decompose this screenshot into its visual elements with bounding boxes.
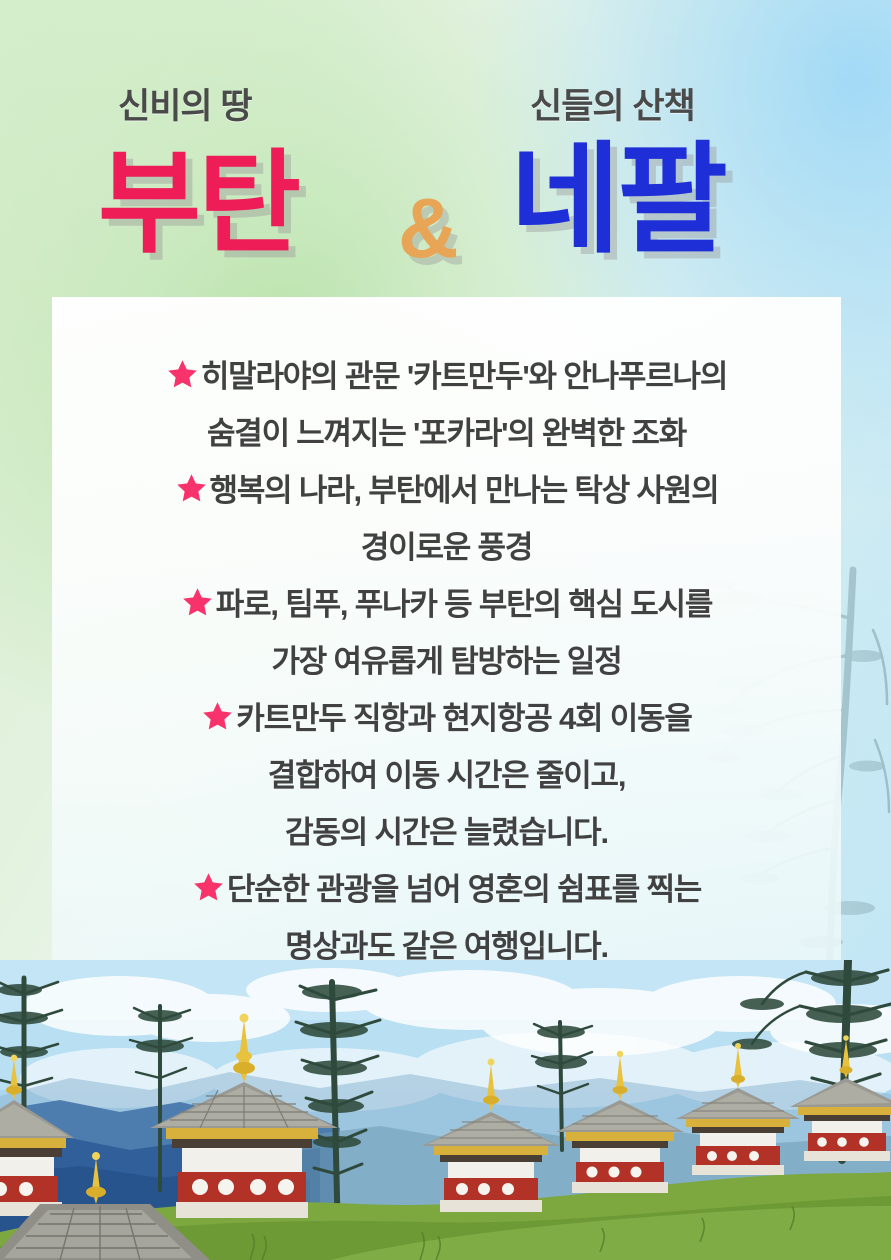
bullet-continuation-line: 결합하여 이동 시간은 줄이고, <box>74 744 819 801</box>
bullet-continuation-line: 가장 여유롭게 탐방하는 일정 <box>74 630 819 687</box>
bullet-text: 단순한 관광을 넘어 영혼의 쉼표를 찍는 <box>227 864 701 909</box>
bullet-line-list: 히말라야의 관문 '카트만두'와 안나푸르나의숨결이 느껴지는 '포카라'의 완… <box>74 345 819 972</box>
bullet-line: 파로, 팀푸, 푸나카 등 부탄의 핵심 도시를 <box>74 573 819 630</box>
bullet-line: 히말라야의 관문 '카트만두'와 안나푸르나의 <box>74 345 819 402</box>
star-icon <box>181 586 214 619</box>
bullet-text: 결합하여 이동 시간은 줄이고, <box>268 750 626 795</box>
bullet-text: 숨결이 느껴지는 '포카라'의 완벽한 조화 <box>207 408 686 453</box>
bullet-line: 행복의 나라, 부탄에서 만나는 탁상 사원의 <box>74 459 819 516</box>
bullet-text: 카트만두 직항과 현지항공 4회 이동을 <box>236 693 692 738</box>
star-icon <box>175 472 208 505</box>
bullet-continuation-line: 경이로운 풍경 <box>74 516 819 573</box>
headline-block: 신비의 땅 부탄 & 신들의 산책 네팔 <box>0 0 891 300</box>
bullet-text: 행복의 나라, 부탄에서 만나는 탁상 사원의 <box>210 465 719 510</box>
bullet-continuation-line: 숨결이 느껴지는 '포카라'의 완벽한 조화 <box>74 402 819 459</box>
bullet-text: 가장 여유롭게 탐방하는 일정 <box>271 636 621 681</box>
kicker-nepal: 신들의 산책 <box>530 78 695 129</box>
bullet-text: 감동의 시간은 늘렸습니다. <box>285 807 608 852</box>
star-icon <box>201 700 234 733</box>
bullet-continuation-line: 감동의 시간은 늘렸습니다. <box>74 801 819 858</box>
star-icon <box>192 871 225 904</box>
poster-root: 신비의 땅 부탄 & 신들의 산책 네팔 히말라야의 관문 '카트만두'와 안나… <box>0 0 891 1260</box>
bullet-text: 파로, 팀푸, 푸나카 등 부탄의 핵심 도시를 <box>216 579 712 624</box>
bullet-text: 히말라야의 관문 '카트만두'와 안나푸르나의 <box>201 351 727 396</box>
title-nepal: 네팔 <box>510 140 725 260</box>
star-icon <box>166 358 199 391</box>
kicker-bhutan: 신비의 땅 <box>118 78 252 129</box>
bullet-line: 단순한 관광을 넘어 영혼의 쉼표를 찍는 <box>74 858 819 915</box>
chorten-photograph: 0 <box>0 960 891 1260</box>
copy-panel: 히말라야의 관문 '카트만두'와 안나푸르나의숨결이 느껴지는 '포카라'의 완… <box>52 297 841 962</box>
bullet-line: 카트만두 직항과 현지항공 4회 이동을 <box>74 687 819 744</box>
title-bhutan: 부탄 <box>98 148 298 260</box>
bullet-text: 경이로운 풍경 <box>361 522 532 567</box>
ampersand-symbol: & <box>398 186 459 270</box>
